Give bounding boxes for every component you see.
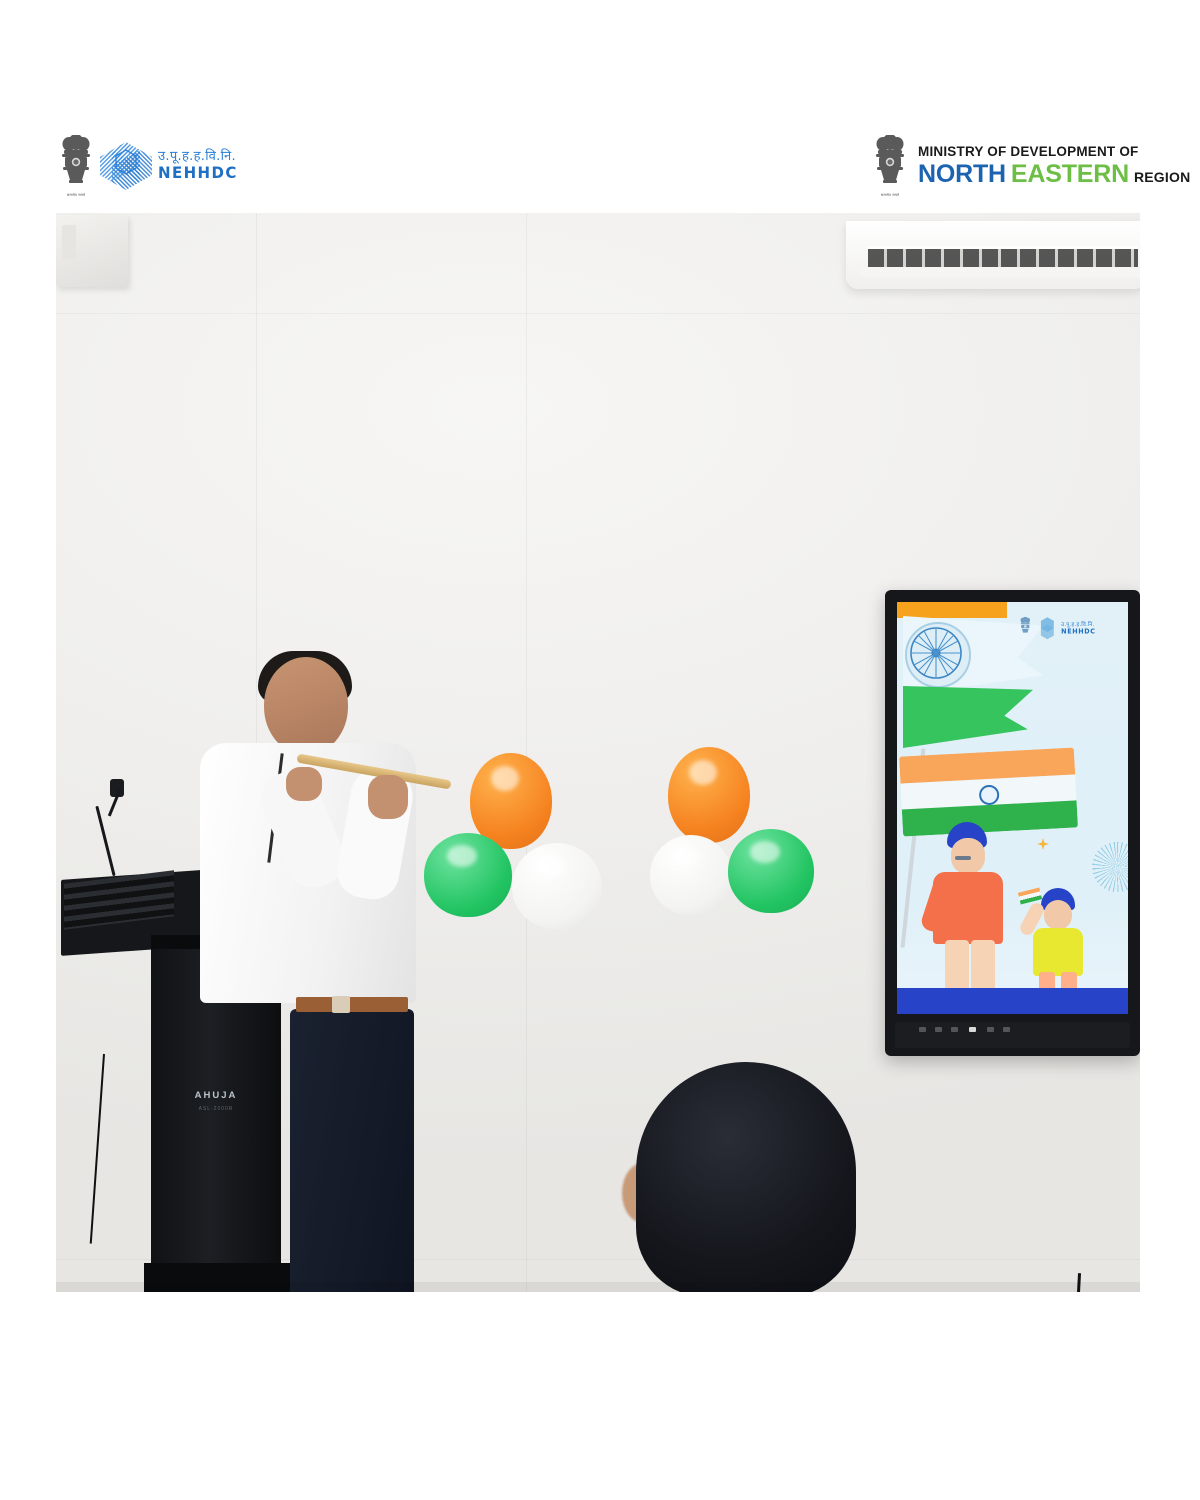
ministry-eastern: EASTERN: [1011, 162, 1129, 187]
nehhdc-wordmark: उ.पू.ह.ह.वि.नि. NEHHDC: [158, 150, 238, 181]
display-screen: उ.पू.ह.ह.वि.नि. NEHHDC: [885, 590, 1140, 1056]
national-emblem-icon: सत्यमेव जयते: [58, 135, 94, 197]
person-left-hand: [286, 767, 322, 801]
nehhdc-english-abbrev: NEHHDC: [158, 166, 238, 183]
display-button[interactable]: [951, 1027, 958, 1032]
balloon-white: [650, 835, 732, 915]
person-trousers: [290, 1009, 414, 1292]
display-button[interactable]: [1003, 1027, 1010, 1032]
display-screen-content: उ.पू.ह.ह.वि.नि. NEHHDC: [897, 602, 1128, 1014]
slide-saffron-bar: [897, 602, 1007, 618]
nehhdc-hindi-abbrev: उ.पू.ह.ह.वि.नि.: [158, 150, 238, 164]
air-conditioner-lip: [858, 267, 1140, 277]
ashoka-chakra-icon: [905, 622, 971, 688]
nehhdc-wordmark: उ.पू.ह.ह.वि.नि. NEHHDC: [1061, 622, 1096, 635]
national-emblem-icon: [1019, 617, 1032, 640]
wall-band: [56, 313, 1140, 314]
display-button[interactable]: [987, 1027, 994, 1032]
balloon-green: [728, 829, 814, 913]
ministry-line-1: MINISTRY OF DEVELOPMENT OF: [918, 145, 1190, 159]
nehhdc-weave-icon: [100, 140, 152, 192]
air-conditioner-unit: [846, 221, 1140, 289]
emblem-motto: सत्यमेव जयते: [58, 194, 94, 197]
slide-nehhdc-logo: उ.पू.ह.ह.वि.नि. NEHHDC: [1017, 614, 1096, 643]
audience-member-head: [636, 1062, 856, 1292]
ministry-north: NORTH: [918, 162, 1006, 187]
display-control-bezel: [895, 1022, 1130, 1048]
emblem-motto: सत्यमेव जयते: [872, 194, 908, 197]
national-emblem-icon: सत्यमेव जयते: [872, 135, 908, 197]
display-button[interactable]: [935, 1027, 942, 1032]
slide-nehhdc-hindi: उ.पू.ह.ह.वि.नि.: [1061, 622, 1096, 628]
slide-ground-band: [897, 988, 1128, 1014]
display-power-button[interactable]: [969, 1027, 976, 1032]
ministry-region: REGION: [1134, 170, 1190, 184]
wall-seam: [526, 213, 527, 1292]
person-belt-buckle: [332, 996, 350, 1013]
balloon-white: [512, 843, 602, 929]
nehhdc-logo: सत्यमेव जयते: [58, 132, 238, 200]
person-belt: [296, 997, 408, 1012]
ministry-logo: सत्यमेव जयते MINISTRY OF DEVELOPMENT OF …: [872, 134, 1190, 198]
floor-edge: [56, 1282, 1140, 1292]
slide-nehhdc-english: NEHHDC: [1061, 628, 1096, 635]
event-photograph: उ.पू.ह.ह.वि.नि. NEHHDC: [56, 213, 1140, 1292]
slide-boy-figure: [1025, 884, 1091, 994]
person-right-hand: [368, 775, 408, 819]
page-header: सत्यमेव जयते: [0, 132, 1200, 200]
display-button[interactable]: [919, 1027, 926, 1032]
ministry-wordmark: MINISTRY OF DEVELOPMENT OF NORTH EASTERN…: [918, 145, 1190, 187]
nehhdc-weave-icon: [1035, 616, 1059, 640]
person-head: [264, 657, 348, 755]
speaker-person: [186, 657, 426, 1292]
balloon-green: [424, 833, 512, 917]
wall-mounted-device: [56, 215, 128, 287]
slide-man-figure: [923, 822, 1013, 992]
balloon-orange: [668, 747, 750, 843]
